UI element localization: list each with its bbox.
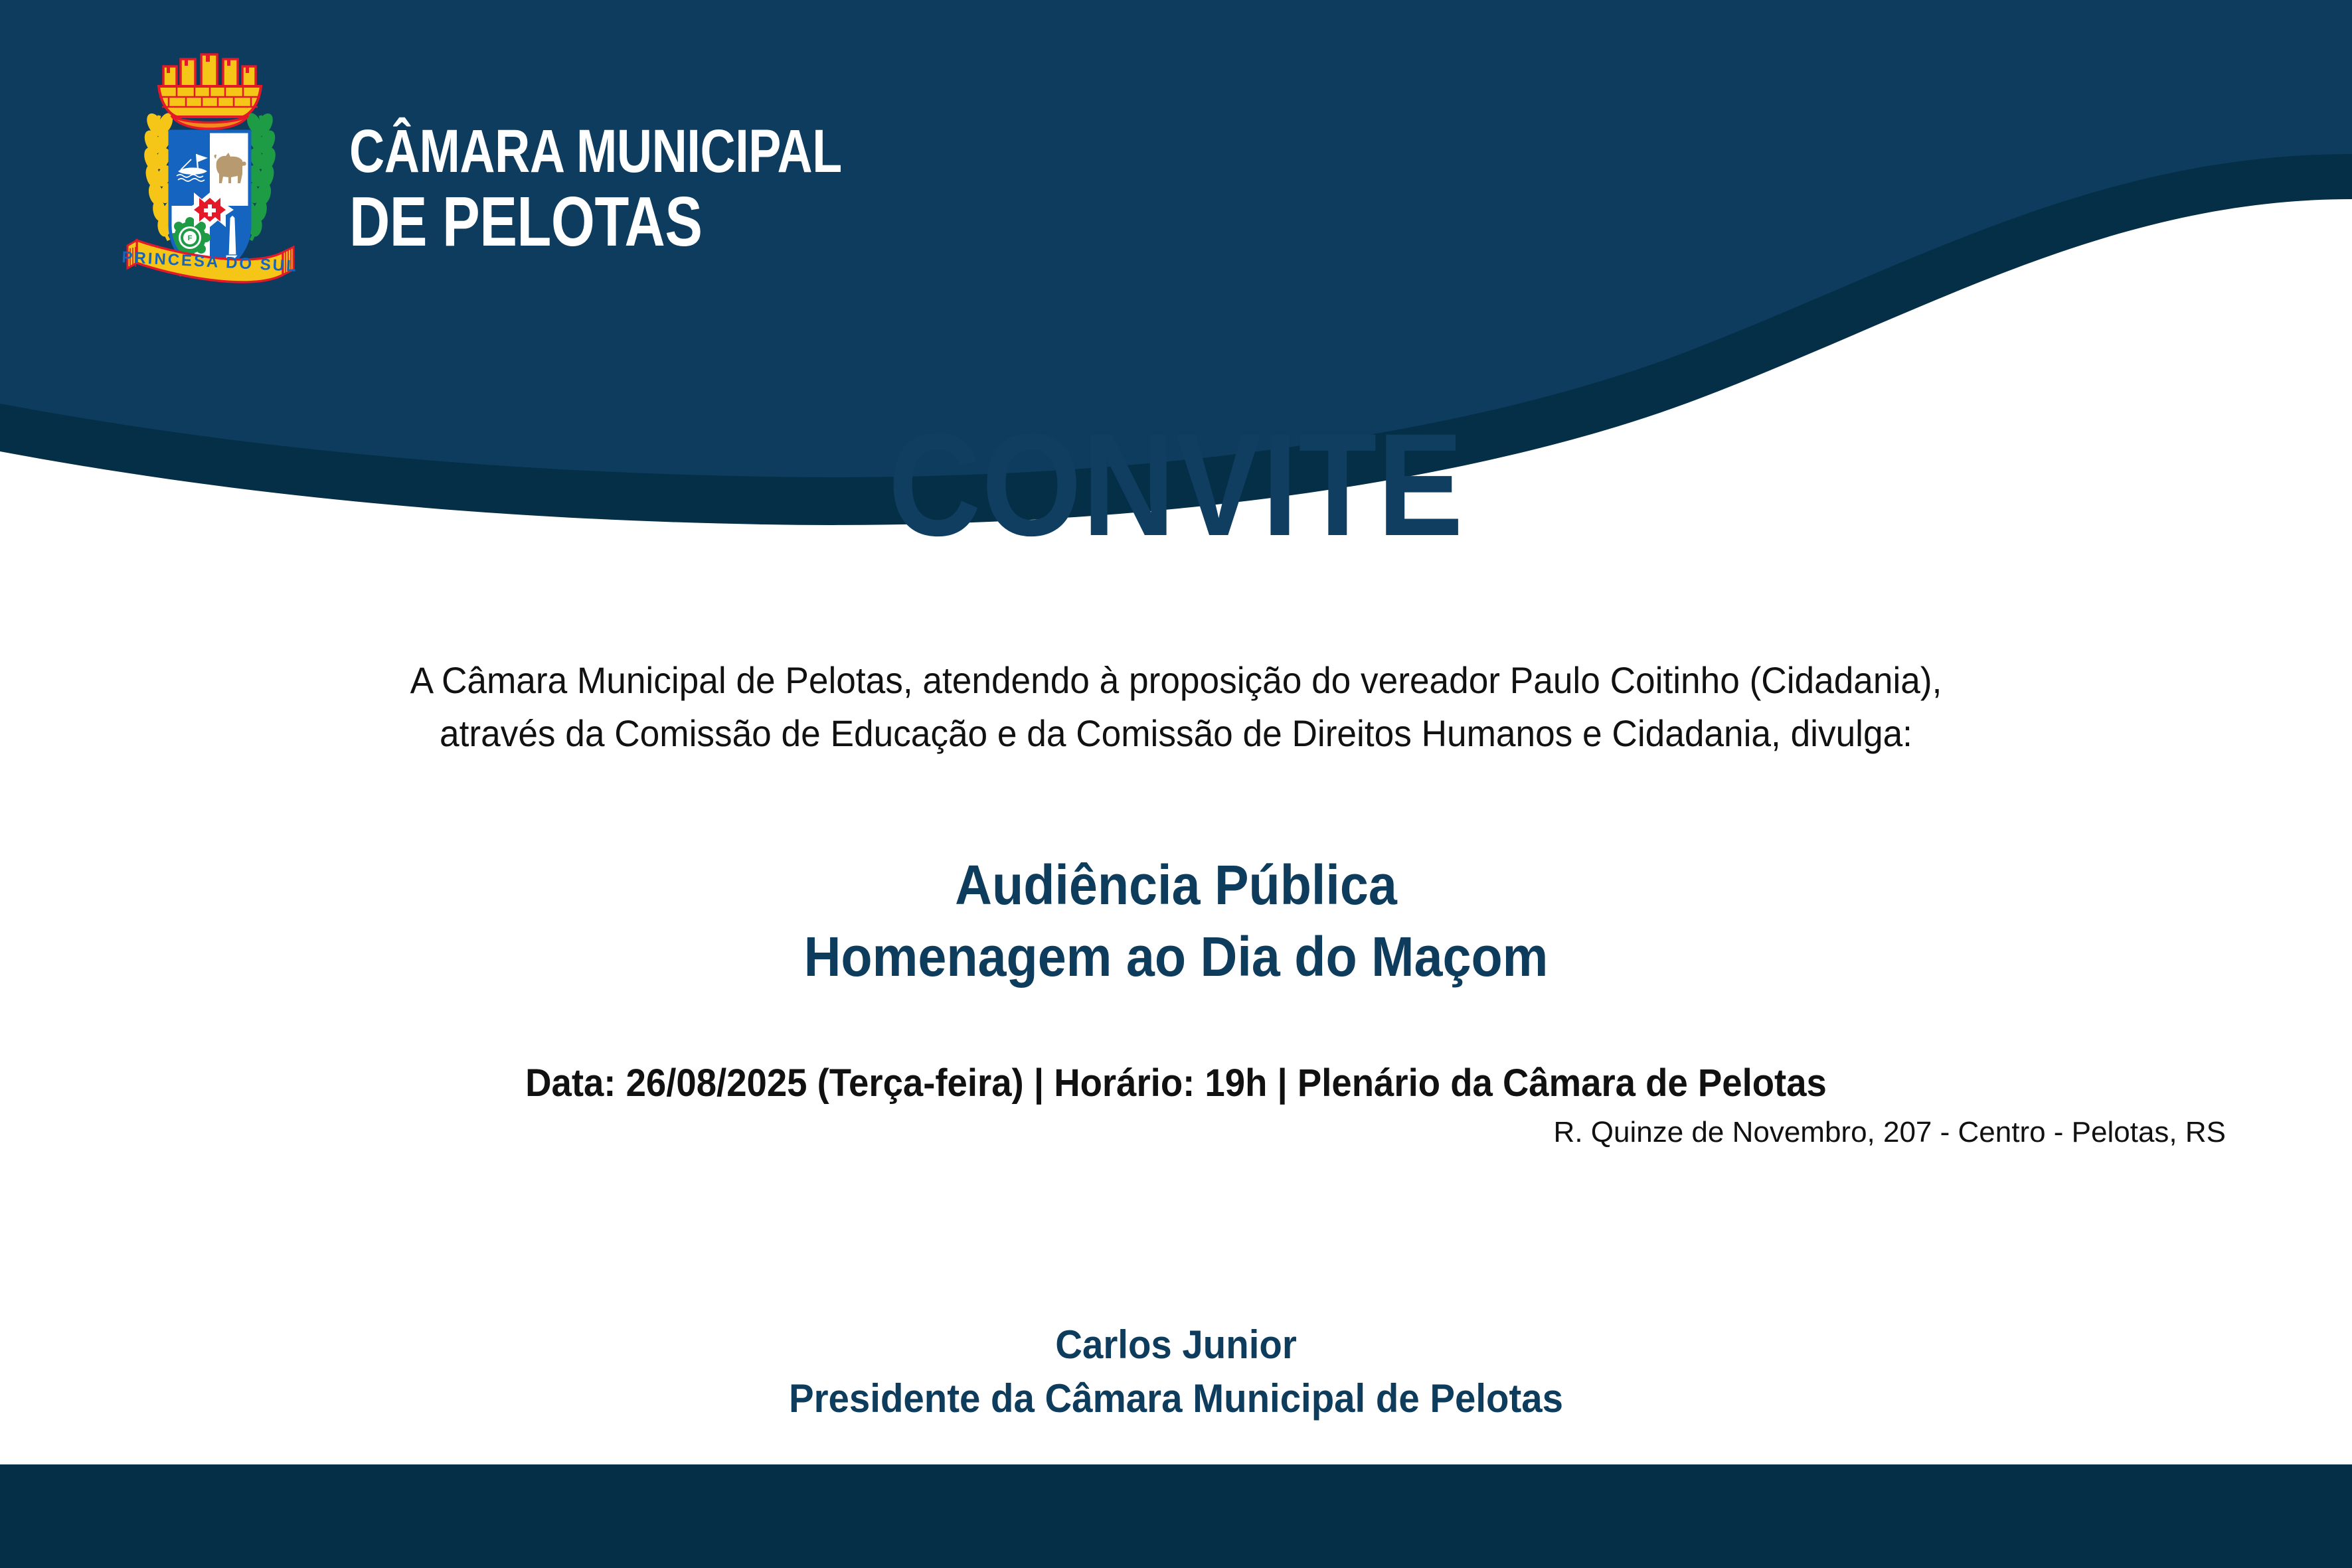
signatory-role: Presidente da Câmara Municipal de Pelota… [70, 1372, 2281, 1425]
event-logistics: Data: 26/08/2025 (Terça-feira) | Horário… [70, 1062, 2281, 1105]
mural-crown-icon [159, 54, 261, 129]
signature-block: Carlos Junior Presidente da Câmara Munic… [70, 1318, 2281, 1425]
invitation-poster: F [0, 0, 2352, 1568]
brand-wordmark: CÂMARA MUNICIPAL DE PELOTAS [349, 85, 965, 256]
event-title-line-2: Homenagem ao Dia do Maçom [94, 921, 2258, 993]
brand-line-camara-municipal: CÂMARA MUNICIPAL [349, 122, 842, 181]
coat-of-arms-icon: F [117, 41, 303, 300]
intro-paragraph: A Câmara Municipal de Pelotas, atendendo… [59, 654, 2294, 759]
svg-text:F: F [188, 234, 193, 242]
brand-lockup: F [117, 41, 965, 300]
intro-line-2: através da Comissão de Educação e da Com… [59, 707, 2294, 760]
event-address: R. Quinze de Novembro, 207 - Centro - Pe… [0, 1115, 2352, 1150]
event-title: Audiência Pública Homenagem ao Dia do Ma… [94, 850, 2258, 992]
footer-bar [0, 1464, 2352, 1568]
brand-line-de-pelotas: DE PELOTAS [349, 188, 842, 256]
page-title: CONVITE [141, 412, 2211, 558]
signatory-name: Carlos Junior [70, 1318, 2281, 1372]
intro-line-1: A Câmara Municipal de Pelotas, atendendo… [59, 654, 2294, 707]
event-title-line-1: Audiência Pública [94, 850, 2258, 921]
